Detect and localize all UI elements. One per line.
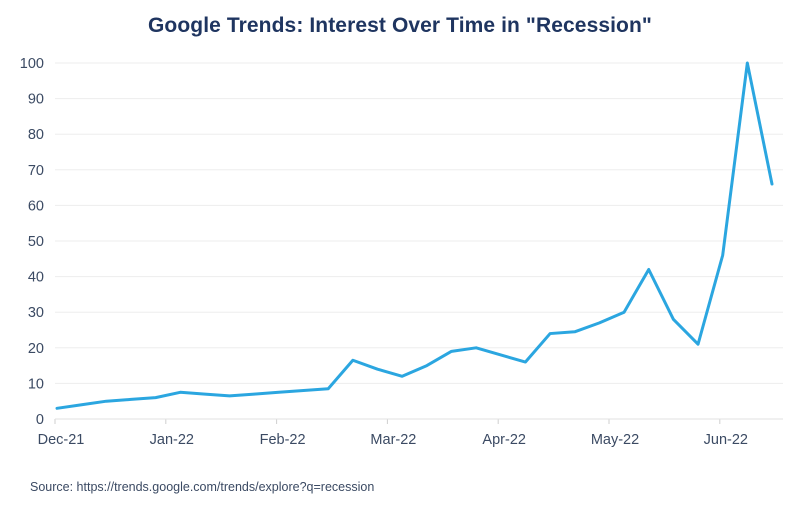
line-chart-plot: 0102030405060708090100 Dec-21Jan-22Feb-2… (0, 0, 800, 470)
y-axis-tick-label: 20 (28, 341, 44, 357)
y-axis-tick-label: 30 (28, 305, 44, 321)
x-axis-tick-labels: Dec-21Jan-22Feb-22Mar-22Apr-22May-22Jun-… (38, 432, 748, 448)
chart-figure: Google Trends: Interest Over Time in "Re… (0, 0, 800, 511)
y-axis-tick-label: 100 (20, 56, 44, 72)
y-axis-tick-label: 0 (36, 412, 44, 428)
x-axis-tick-label: Jan-22 (150, 432, 194, 448)
y-axis-tick-label: 90 (28, 92, 44, 108)
x-axis-tick-label: Jun-22 (704, 432, 748, 448)
source-note: Source: https://trends.google.com/trends… (30, 480, 374, 494)
x-axis-tick-label: Dec-21 (38, 432, 85, 448)
y-axis-tick-label: 70 (28, 163, 44, 179)
gridlines-group (55, 63, 783, 383)
y-axis-tick-label: 40 (28, 270, 44, 286)
y-axis-tick-label: 10 (28, 376, 44, 392)
y-axis-tick-label: 60 (28, 198, 44, 214)
y-axis-tick-labels: 0102030405060708090100 (20, 56, 44, 428)
data-series-line (57, 63, 772, 408)
x-axis-tick-label: May-22 (591, 432, 639, 448)
y-axis-tick-label: 50 (28, 234, 44, 250)
x-axis-tick-label: Mar-22 (370, 432, 416, 448)
x-tick-marks-group (55, 419, 720, 424)
x-axis-tick-label: Feb-22 (260, 432, 306, 448)
x-axis-tick-label: Apr-22 (482, 432, 526, 448)
y-axis-tick-label: 80 (28, 127, 44, 143)
